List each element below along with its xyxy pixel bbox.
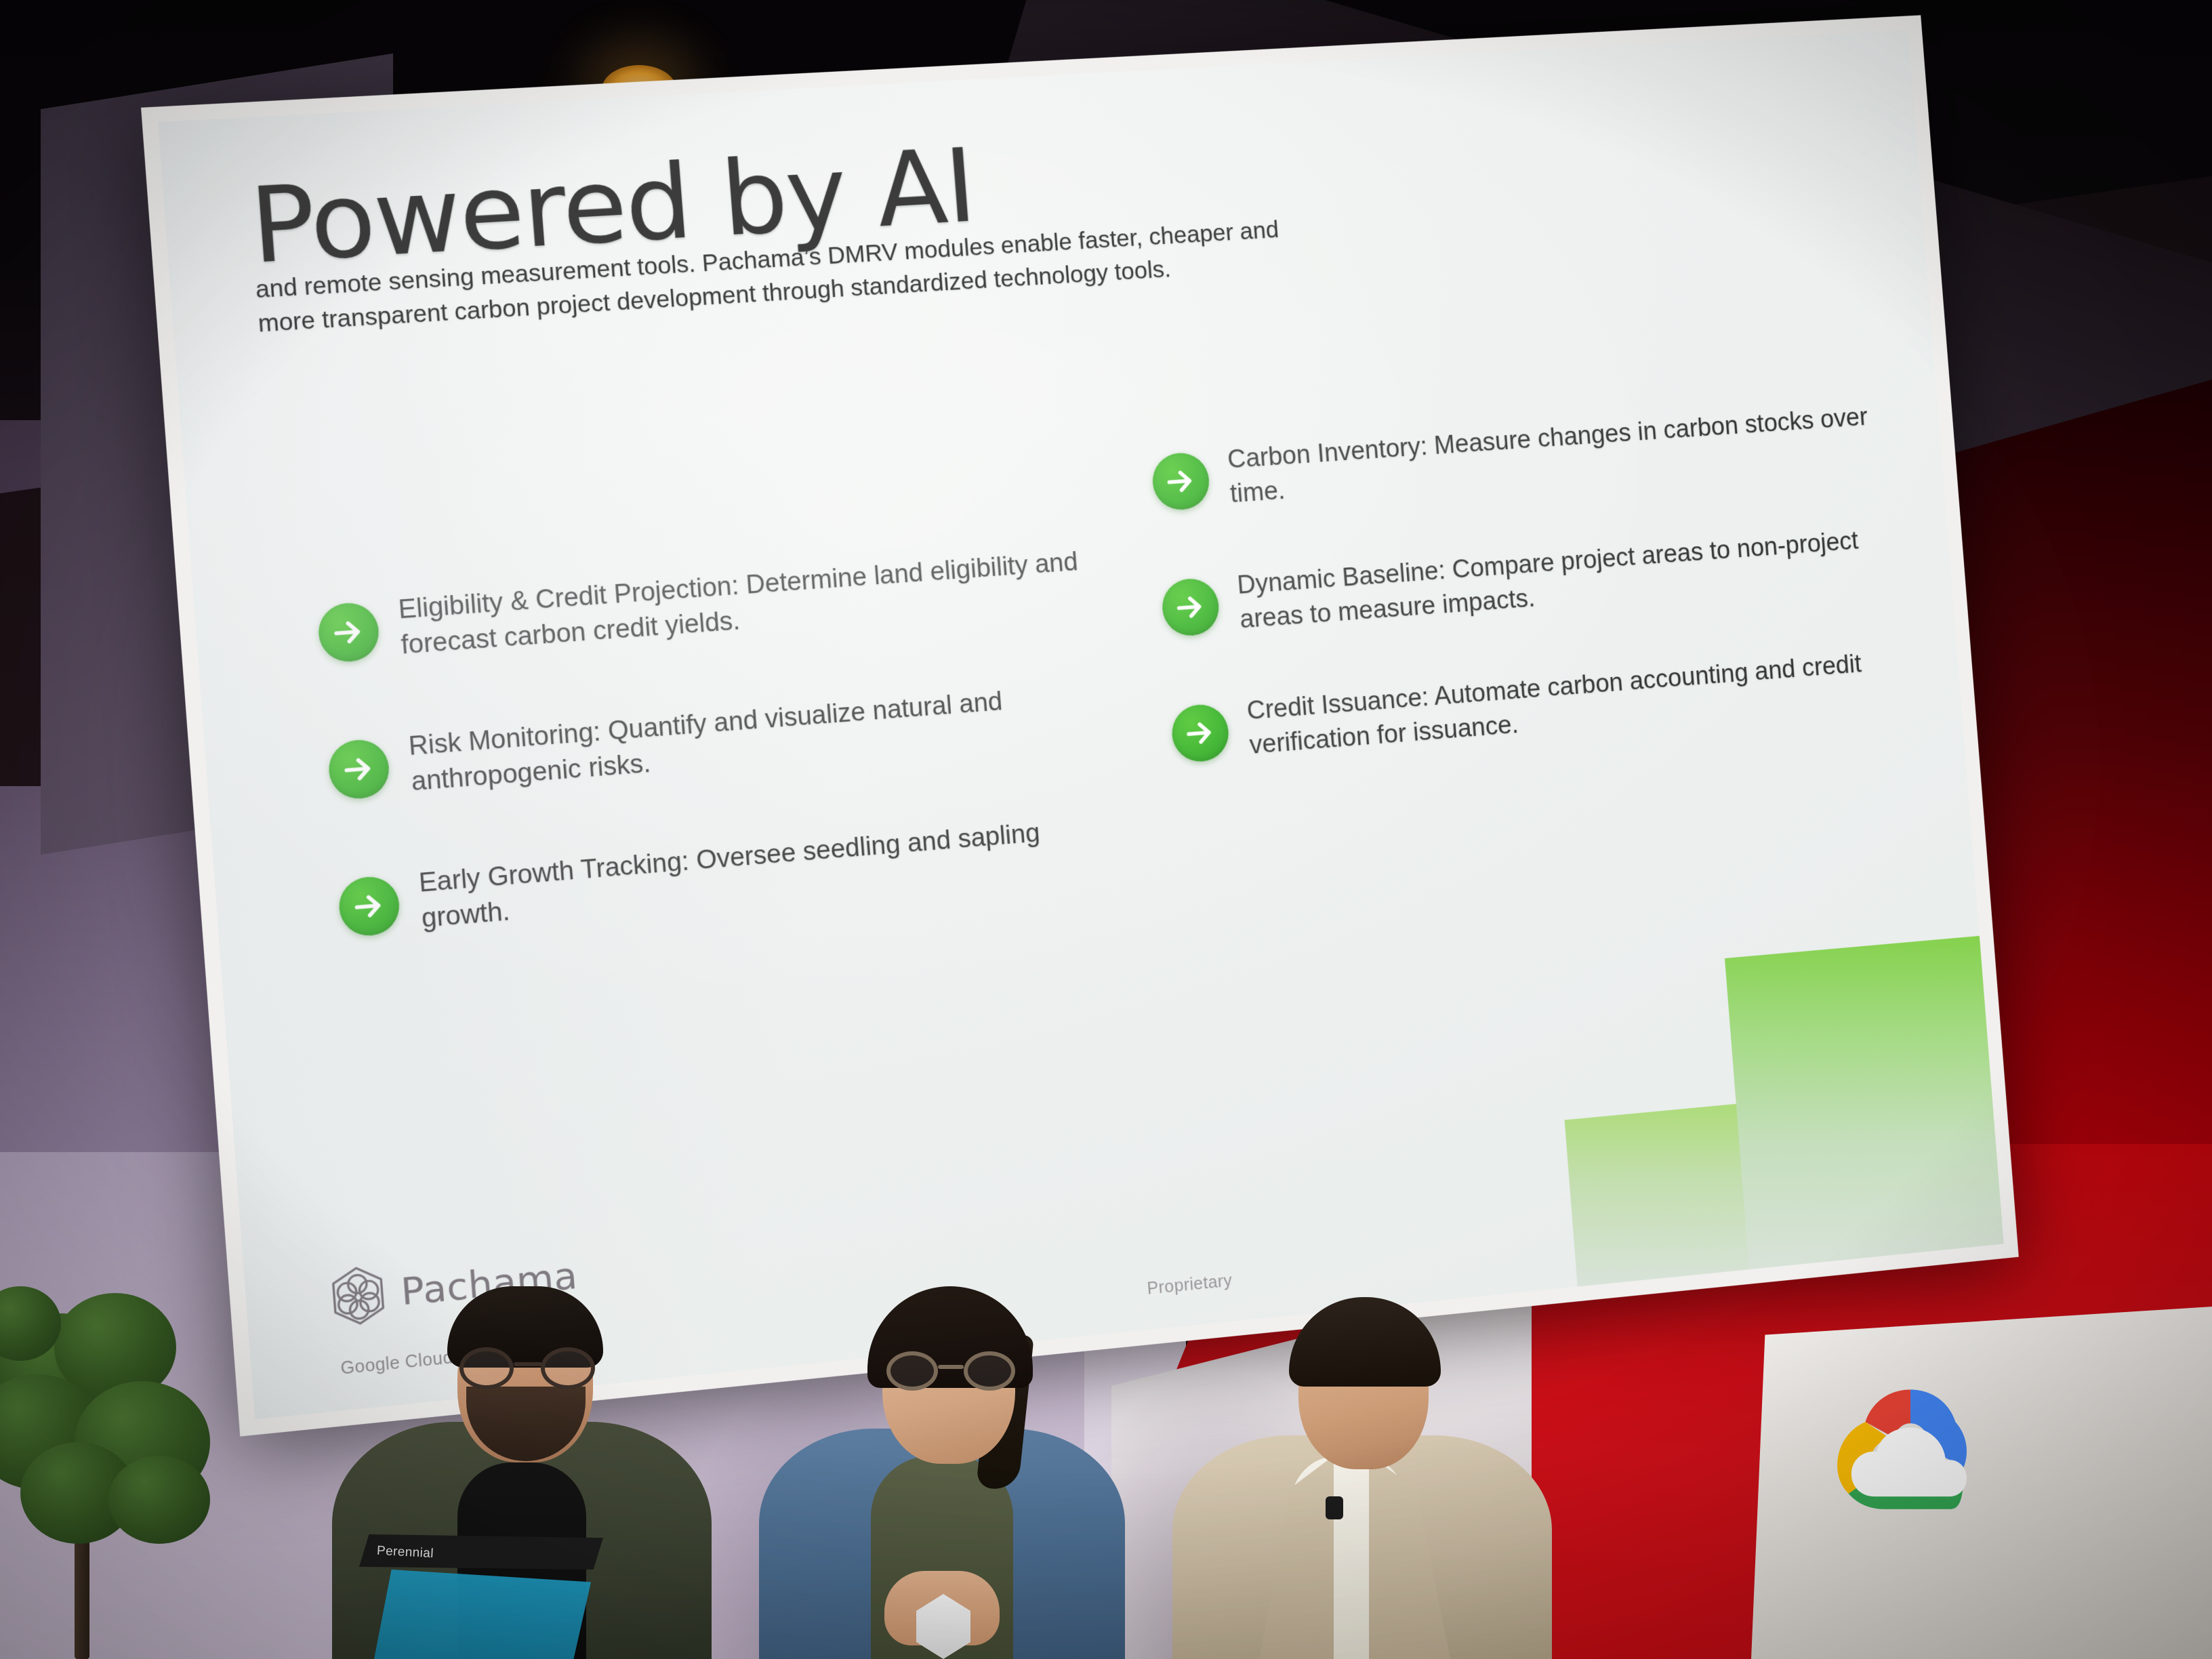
panelist-right xyxy=(1145,1293,1579,1659)
google-cloud-icon xyxy=(1826,1381,1995,1530)
conference-stage-photo: Powered by AI and remote sensing measure… xyxy=(0,0,2212,1659)
presentation-slide: Powered by AI and remote sensing measure… xyxy=(158,30,2004,1420)
eyeglasses-icon xyxy=(455,1347,599,1389)
potted-tree xyxy=(0,1279,258,1659)
projection-screen: Powered by AI and remote sensing measure… xyxy=(141,15,2019,1436)
podium-panel xyxy=(1751,1307,2212,1659)
tree-canopy xyxy=(0,1286,244,1557)
panelist-left: Perennial xyxy=(312,1279,732,1659)
eyeglasses-icon xyxy=(884,1351,1018,1391)
panelist-right-hair xyxy=(1289,1297,1441,1387)
panelist-center xyxy=(732,1279,1152,1659)
panelist-left-jacket-stripe-teal xyxy=(374,1570,591,1659)
screen-frame: Powered by AI and remote sensing measure… xyxy=(141,15,2019,1436)
panelist-left-badge-label: Perennial xyxy=(376,1544,434,1561)
lapel-microphone-icon xyxy=(1326,1496,1343,1519)
